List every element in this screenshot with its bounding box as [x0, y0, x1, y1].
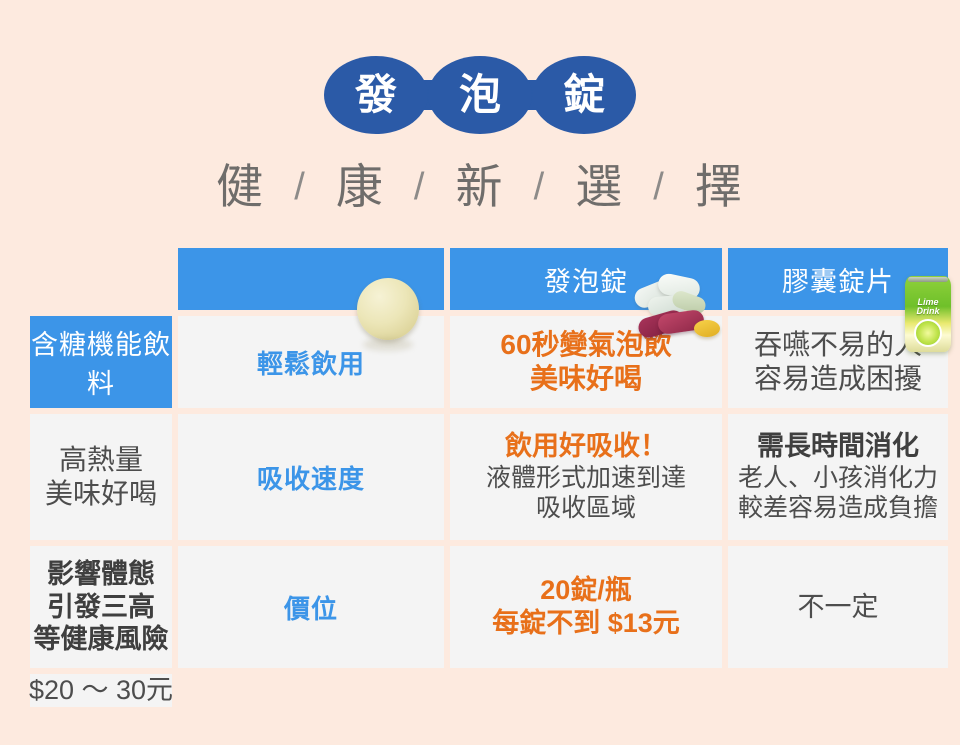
cell-line: 20錠/瓶 — [540, 574, 632, 607]
can-label-text: Lime Drink — [905, 298, 951, 316]
logo-banner: 發 泡 錠 — [0, 56, 960, 134]
cell-line: 吸收區域 — [536, 493, 636, 524]
subtitle-sep-1: / — [284, 166, 317, 208]
subtitle-char-3: 新 — [452, 160, 509, 213]
cell-line: 高熱量 — [59, 443, 143, 477]
subtitle-char-4: 選 — [571, 160, 628, 213]
poster-root: 發 泡 錠 健 / 康 / 新 / 選 / 擇 發泡錠 膠囊錠片 含糖機能飲料 — [0, 0, 960, 745]
table-row-3-col3: $20 ～ 30元 — [30, 674, 172, 707]
subtitle-sep-3: / — [524, 166, 557, 208]
tablet-yellow-icon — [694, 320, 720, 337]
cell-line: 等健康風險 — [34, 623, 169, 656]
logo-char-3: 錠 — [563, 74, 605, 116]
cell-line: 老人、小孩消化力 — [738, 463, 938, 494]
soda-can-icon: Lime Drink — [905, 276, 951, 352]
table-row-2-col1: 飲用好吸收！ 液體形式加速到達 吸收區域 — [450, 414, 722, 540]
logo-char-1: 發 — [355, 74, 397, 116]
table-header-col3: 含糖機能飲料 — [30, 316, 172, 408]
lime-slice-icon — [914, 319, 942, 347]
cell-line: 需長時間消化 — [757, 430, 919, 463]
subtitle-char-2: 康 — [332, 160, 389, 213]
row-label-text-2: 吸收速度 — [257, 459, 365, 496]
logo-pill-group: 發 泡 錠 — [330, 56, 630, 134]
cell-line: 美味好喝 — [530, 362, 642, 396]
subtitle: 健 / 康 / 新 / 選 / 擇 — [0, 148, 960, 217]
cell-line: 美味好喝 — [45, 477, 157, 511]
logo-char-2: 泡 — [459, 74, 501, 116]
logo-bubble-1: 發 — [324, 56, 428, 134]
cell-line: 液體形式加速到達 — [486, 463, 686, 494]
cell-line: 不一定 — [798, 591, 879, 624]
logo-bubble-3: 錠 — [532, 56, 636, 134]
table-row-label-2: 吸收速度 — [178, 414, 444, 540]
cell-line: $20 ～ 30元 — [29, 674, 173, 707]
cell-line: 飲用好吸收！ — [505, 430, 667, 463]
table-row-2-col2: 需長時間消化 老人、小孩消化力 較差容易造成負擔 — [728, 414, 948, 540]
comparison-table: 發泡錠 膠囊錠片 含糖機能飲料 輕鬆飲用 60秒變氣泡飲 美味好喝 吞嚥不易的人… — [30, 248, 930, 707]
cell-line: 每錠不到 $13元 — [492, 607, 680, 640]
subtitle-sep-2: / — [404, 166, 437, 208]
cell-line: 較差容易造成負擔 — [738, 493, 938, 524]
table-row-3-col2: 不一定 — [728, 546, 948, 668]
can-rim — [908, 277, 948, 282]
table-row-label-3: 價位 — [178, 546, 444, 668]
cell-line: 吞嚥不易的人 — [754, 328, 922, 362]
capsules-cluster-icon — [632, 272, 724, 356]
row-label-text-3: 價位 — [284, 589, 338, 626]
subtitle-sep-4: / — [643, 166, 676, 208]
row-label-text-1: 輕鬆飲用 — [257, 344, 365, 381]
cell-line: 影響體態 — [47, 558, 155, 591]
effervescent-tablet-icon — [357, 278, 419, 340]
cell-line: 引發三高 — [47, 591, 155, 624]
subtitle-char-1: 健 — [212, 160, 269, 213]
table-row-1-col3: 高熱量 美味好喝 — [30, 414, 172, 540]
subtitle-char-5: 擇 — [691, 160, 748, 213]
cell-line: 容易造成困擾 — [754, 362, 922, 396]
table-row-3-col1: 20錠/瓶 每錠不到 $13元 — [450, 546, 722, 668]
table-row-2-col3: 影響體態 引發三高 等健康風險 — [30, 546, 172, 668]
logo-bubble-2: 泡 — [428, 56, 532, 134]
